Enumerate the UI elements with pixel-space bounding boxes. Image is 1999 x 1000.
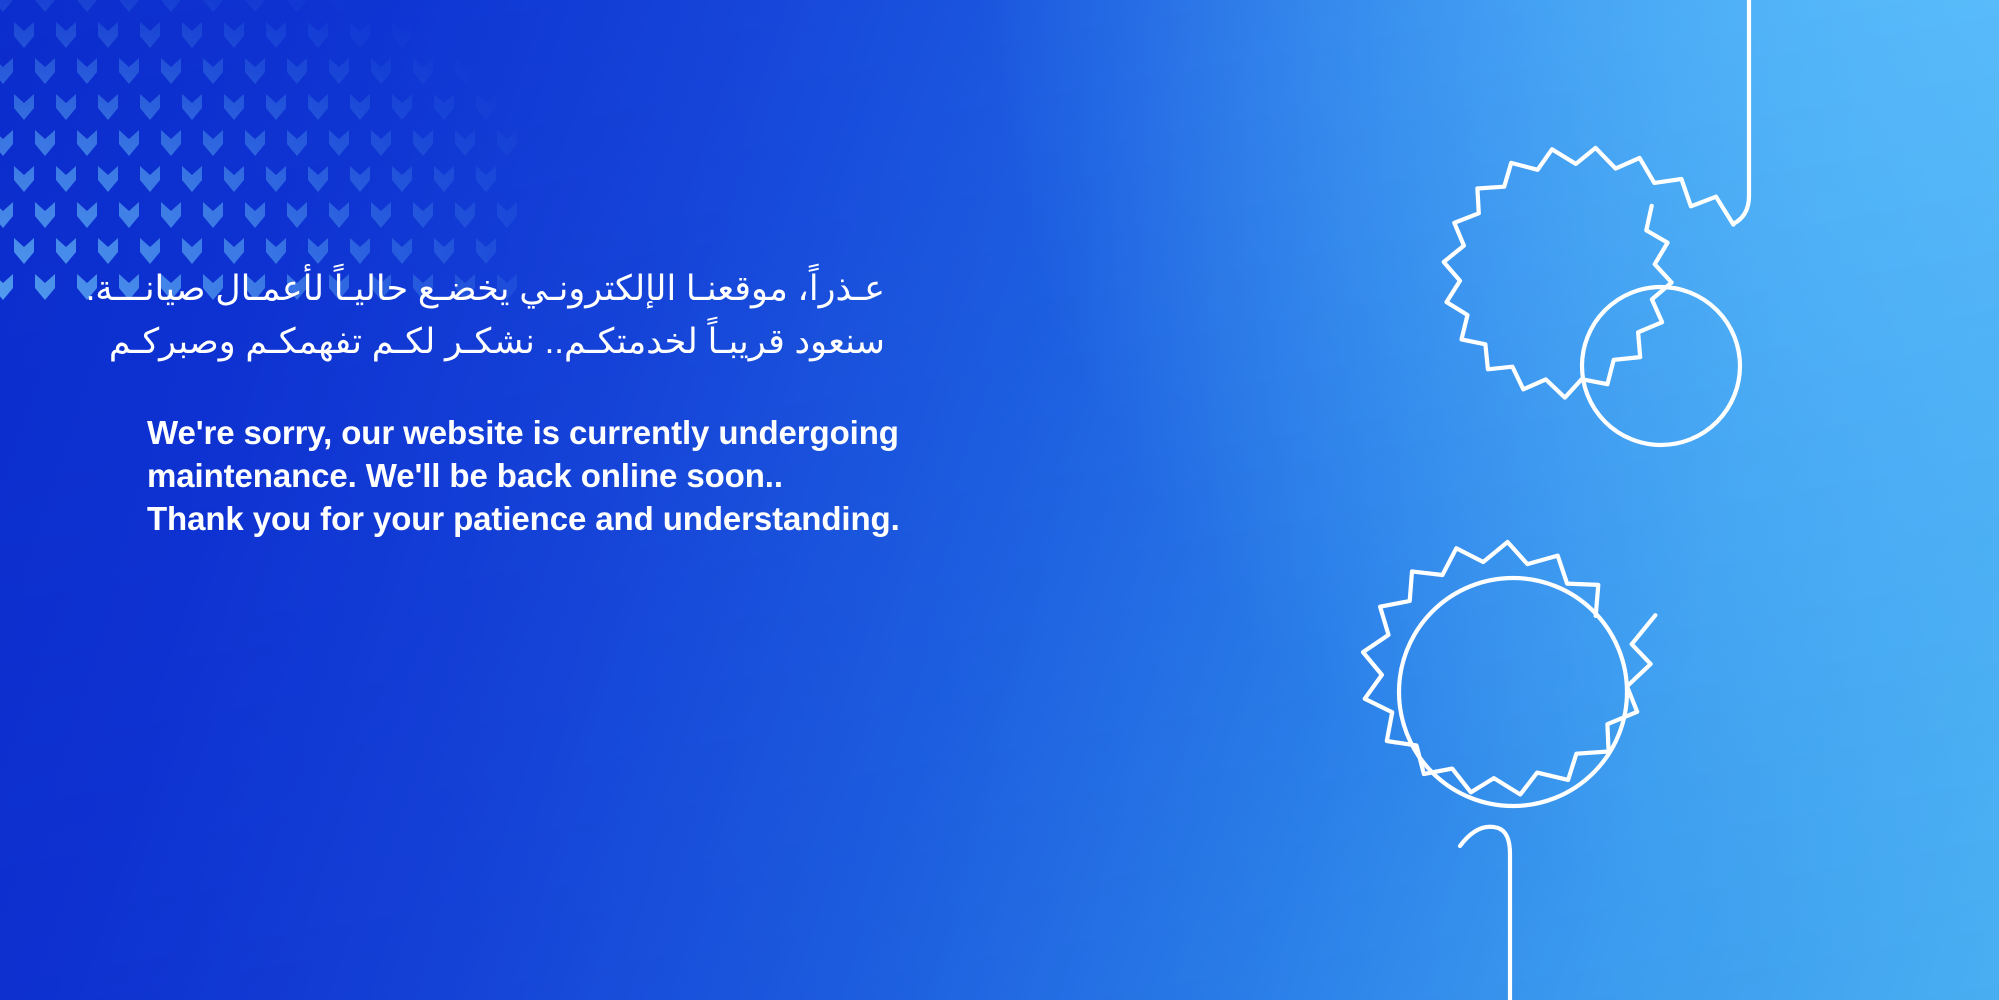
arabic-message: عـذراً، موقعنـا الإلكترونـي يخضـع حاليـا… [147,262,885,368]
message-block: عـذراً، موقعنـا الإلكترونـي يخضـع حاليـا… [147,262,1027,541]
english-message: We're sorry, our website is currently un… [147,412,1027,541]
english-line-3: Thank you for your patience and understa… [147,498,1027,541]
english-line-1: We're sorry, our website is currently un… [147,412,1027,455]
arabic-line-2: سنعود قريبـاً لخدمتكـم.. نشكـر لكـم تفهم… [147,315,885,368]
english-line-2: maintenance. We'll be back online soon.. [147,455,1027,498]
maintenance-page: عـذراً، موقعنـا الإلكترونـي يخضـع حاليـا… [0,0,1999,1000]
arabic-line-1: عـذراً، موقعنـا الإلكترونـي يخضـع حاليـا… [147,262,885,315]
